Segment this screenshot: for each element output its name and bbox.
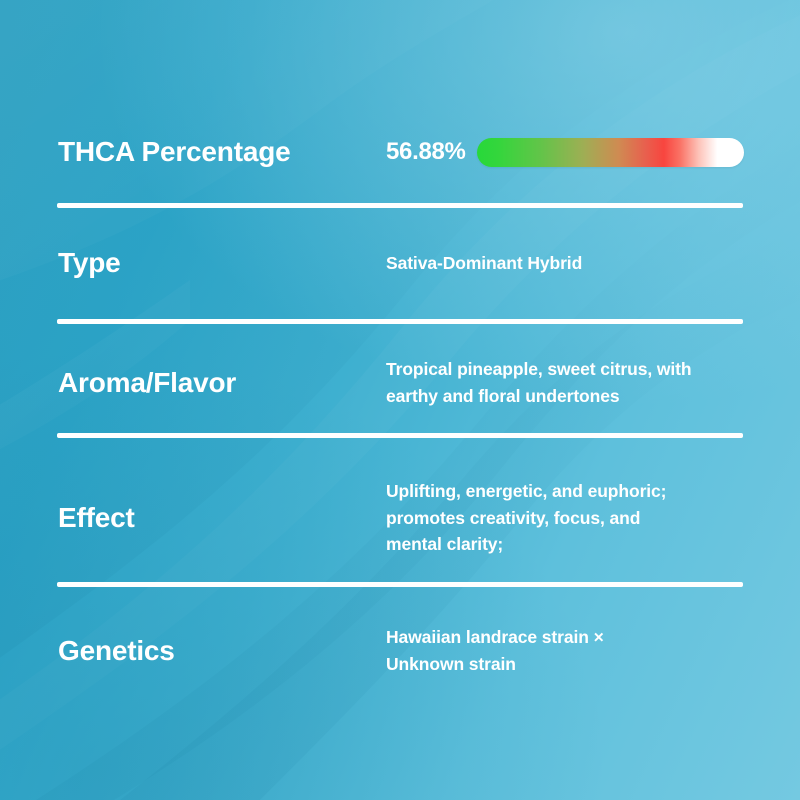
row-value-effect: Uplifting, energetic, and euphoric; prom… [386,478,744,558]
thca-percentage-meter-group: 56.88% [386,138,744,167]
strain-info-card: THCA Percentage 56.88% Type Sativa-Domin… [0,0,800,800]
value-line: Uplifting, energetic, and euphoric; [386,478,744,505]
thca-percentage-progress-bar [477,138,744,167]
row-divider-4 [57,582,743,587]
table-row-aroma-flavor: Aroma/Flavor Tropical pineapple, sweet c… [58,352,744,414]
table-row-thca-percentage: THCA Percentage 56.88% [58,133,744,171]
row-label-thca-percentage: THCA Percentage [58,136,386,168]
value-line: Tropical pineapple, sweet citrus, with [386,356,744,383]
table-row-genetics: Genetics Hawaiian landrace strain × Unkn… [58,620,744,682]
row-divider-2 [57,319,743,324]
value-line: mental clarity; [386,531,744,558]
row-label-genetics: Genetics [58,635,386,667]
row-label-effect: Effect [58,502,386,534]
row-label-aroma-flavor: Aroma/Flavor [58,367,386,399]
row-value-aroma-flavor: Tropical pineapple, sweet citrus, with e… [386,356,744,409]
table-row-effect: Effect Uplifting, energetic, and euphori… [58,474,744,562]
thca-percentage-value: 56.88% [386,138,466,166]
row-divider-3 [57,433,743,438]
row-divider-1 [57,203,743,208]
row-label-type: Type [58,247,386,279]
strain-attributes-table: THCA Percentage 56.88% Type Sativa-Domin… [0,0,800,800]
value-line: Unknown strain [386,651,744,678]
row-value-genetics: Hawaiian landrace strain × Unknown strai… [386,624,744,677]
row-value-type: Sativa-Dominant Hybrid [386,250,744,277]
value-line: promotes creativity, focus, and [386,505,744,532]
value-line: earthy and floral undertones [386,383,744,410]
value-line: Hawaiian landrace strain × [386,624,744,651]
value-line: Sativa-Dominant Hybrid [386,250,744,277]
table-row-type: Type Sativa-Dominant Hybrid [58,244,744,282]
